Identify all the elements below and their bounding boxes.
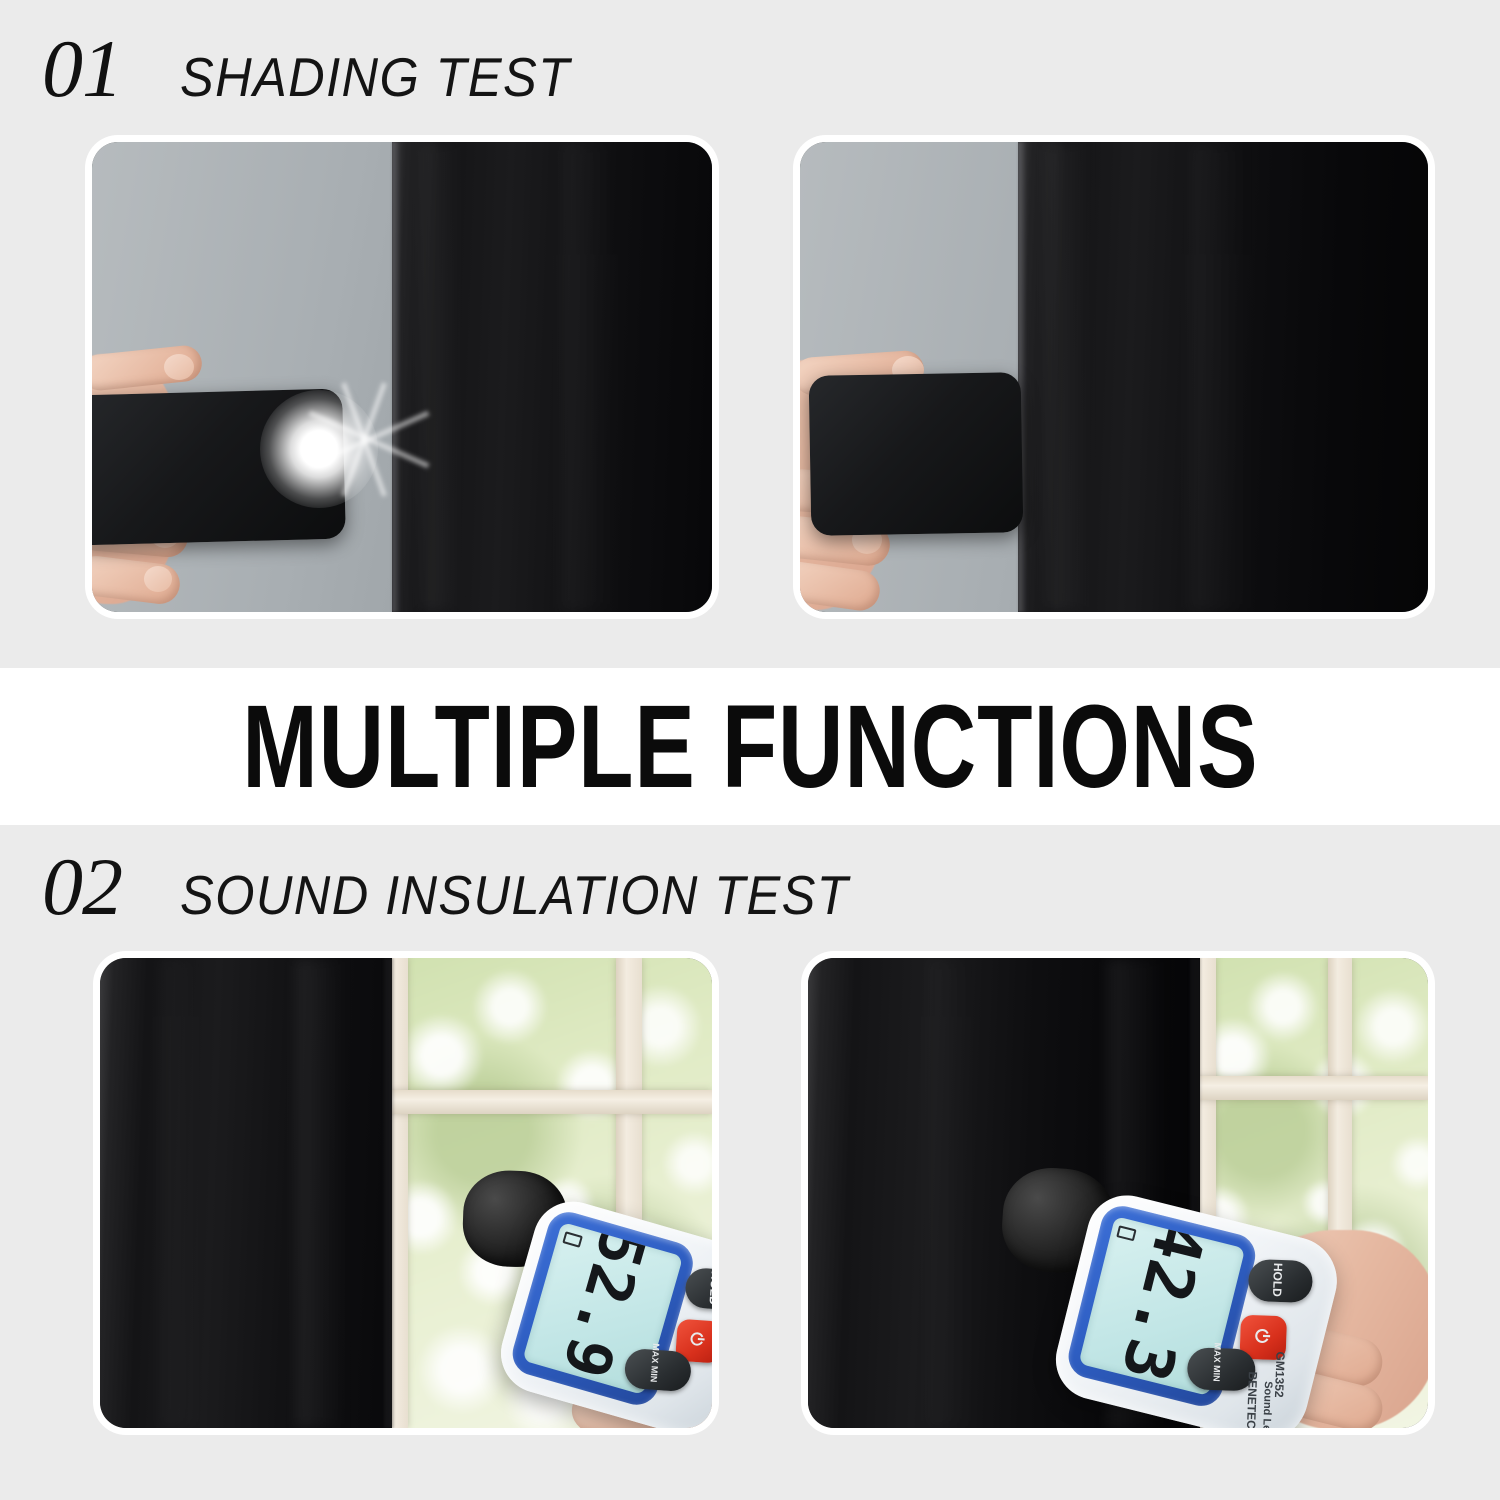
scene-window-open: 52.9 dBA HOLD ⏻ MAX MIN: [100, 958, 712, 1428]
hold-button-label: HOLD: [1270, 1263, 1285, 1297]
maxmin-button-label: MAX MIN: [649, 1343, 662, 1383]
banner: MULTIPLE FUNCTIONS: [0, 668, 1500, 825]
section-title-02: SOUND INSULATION TEST: [180, 868, 849, 923]
curtain-fold: [422, 142, 462, 612]
power-button-icon: ⏻: [686, 1332, 707, 1347]
scene-wall-flashlight: [92, 142, 712, 612]
scene-curtain-blocks-sound: 42.3 dBA HOLD ⏻ MAX MIN BENETECH GM1352 …: [808, 958, 1428, 1428]
meter-product-name: Sound Level Meter: [1259, 1381, 1274, 1428]
photo-panel-shading-blocked: [800, 142, 1428, 612]
scene-curtain-blocks-light: [800, 142, 1428, 612]
photo-panel-sound-curtain: 42.3 dBA HOLD ⏻ MAX MIN BENETECH GM1352 …: [808, 958, 1428, 1428]
maxmin-button[interactable]: MAX MIN: [624, 1348, 693, 1393]
flashlight-glow: [260, 390, 378, 508]
power-button-icon: ⏻: [1251, 1328, 1272, 1343]
section-title-01: SHADING TEST: [180, 50, 570, 105]
meter-brand-label: BENETECH: [1244, 1371, 1260, 1428]
curtain-edge-seam: [1018, 142, 1027, 612]
curtain-edge-seam: [392, 142, 401, 612]
hold-button[interactable]: HOLD: [1248, 1259, 1313, 1303]
section-heading-01: 01 SHADING TEST: [42, 28, 604, 110]
battery-icon: [562, 1231, 583, 1247]
blackout-curtain: [100, 958, 392, 1428]
banner-title: MULTIPLE FUNCTIONS: [242, 688, 1258, 805]
fingernail: [164, 354, 194, 380]
section-heading-02: 02 SOUND INSULATION TEST: [42, 846, 907, 928]
section-number-01: 01: [42, 28, 122, 110]
photo-panel-shading-light: [92, 142, 712, 612]
window-mullion-horizontal: [1194, 1076, 1428, 1100]
window-mullion-horizontal: [386, 1090, 712, 1114]
battery-icon: [1116, 1225, 1136, 1241]
maxmin-button-label: MAX MIN: [1211, 1342, 1222, 1381]
photo-panel-sound-open-window: 52.9 dBA HOLD ⏻ MAX MIN: [100, 958, 712, 1428]
curtain-fold: [160, 958, 204, 1428]
curtain-fold: [1046, 142, 1092, 612]
fingernail: [144, 566, 172, 592]
curtain-edge-seam: [384, 958, 394, 1428]
meter-model-label: GM1352: [1272, 1351, 1288, 1397]
section-number-02: 02: [42, 846, 122, 928]
curtain-fold: [1190, 142, 1256, 612]
smartphone: [809, 372, 1024, 536]
curtain-fold: [296, 958, 348, 1428]
hold-button-label: HOLD: [706, 1271, 712, 1306]
curtain-fold: [562, 142, 622, 612]
